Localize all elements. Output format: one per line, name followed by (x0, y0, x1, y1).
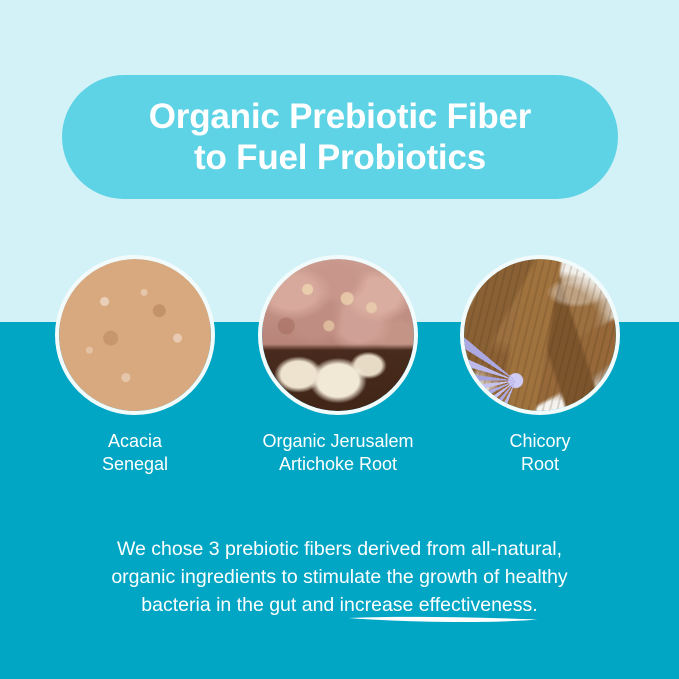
ingredient-captions-row: Acacia Senegal Organic Jerusalem Articho… (0, 430, 679, 490)
ingredient-item-jerusalem-artichoke (258, 255, 418, 415)
ingredient-item-acacia (55, 255, 215, 415)
prebiotic-fiber-infographic: Organic Prebiotic Fiber to Fuel Probioti… (0, 0, 679, 679)
caption-chicory: Chicory Root (460, 430, 620, 476)
artichoke-photo-fill (262, 259, 414, 411)
ingredient-circles-row (0, 255, 679, 415)
brush-underline-icon (348, 615, 538, 624)
chicory-photo-fill (464, 259, 616, 411)
jerusalem-artichoke-root-photo (258, 255, 418, 415)
ingredient-item-chicory (460, 255, 620, 415)
title-pill: Organic Prebiotic Fiber to Fuel Probioti… (62, 75, 618, 199)
acacia-gum-crystals-photo (55, 255, 215, 415)
page-title: Organic Prebiotic Fiber to Fuel Probioti… (149, 96, 531, 178)
acacia-photo-fill (59, 259, 211, 411)
chicory-root-and-flower-photo (460, 255, 620, 415)
caption-jerusalem-artichoke: Organic Jerusalem Artichoke Root (238, 430, 438, 476)
body-paragraph: We chose 3 prebiotic fibers derived from… (50, 535, 629, 619)
caption-acacia: Acacia Senegal (55, 430, 215, 476)
